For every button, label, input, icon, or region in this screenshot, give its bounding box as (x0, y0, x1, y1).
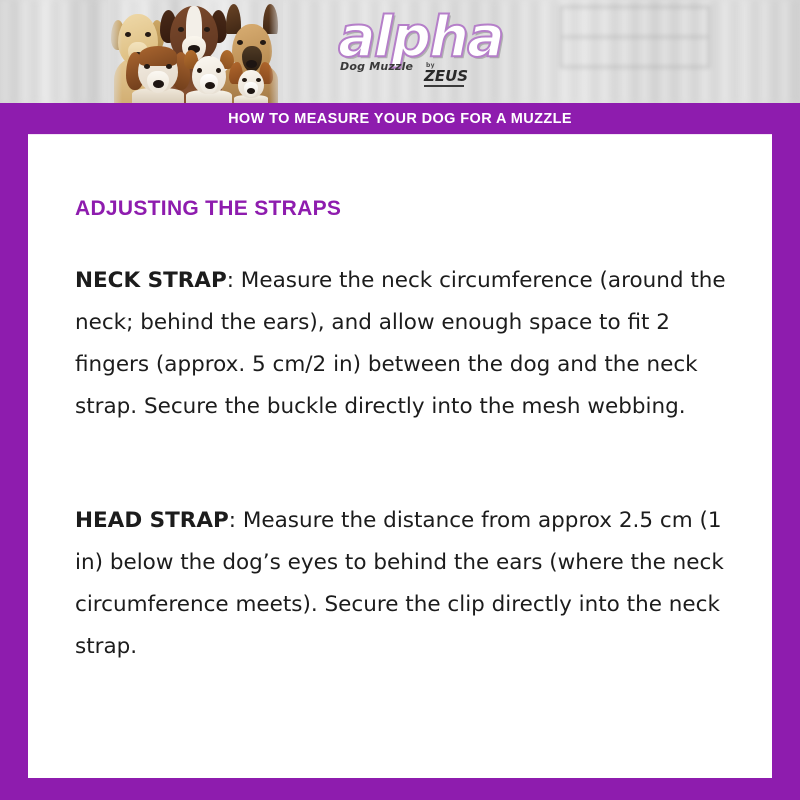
dog-nose (205, 82, 215, 89)
dog-eye-right (256, 78, 261, 82)
header-banner: alpha Dog Muzzle by ZEUS (0, 0, 800, 103)
dog-eye-left (125, 32, 131, 37)
paragraph-head-strap: HEAD STRAP: Measure the distance from ap… (75, 500, 735, 668)
logo-wordmark: alpha (338, 10, 503, 66)
dog-eye-right (216, 68, 221, 73)
dog-head-marking (139, 46, 177, 66)
dog-beagle (130, 44, 186, 103)
paragraph-label-head-strap: HEAD STRAP (75, 508, 229, 533)
page-title-bar: HOW TO MEASURE YOUR DOG FOR A MUZZLE (0, 103, 800, 134)
page-root: alpha Dog Muzzle by ZEUS HOW TO MEASURE … (0, 0, 800, 800)
photo-fade-right (269, 0, 283, 103)
dog-nose (153, 80, 164, 88)
dog-eye-left (144, 64, 150, 69)
paragraph-separator: : (229, 508, 243, 533)
dog-eye-right (204, 27, 210, 32)
page-title: HOW TO MEASURE YOUR DOG FOR A MUZZLE (228, 111, 572, 127)
zeus-wordmark: ZEUS (424, 69, 468, 84)
dog-jack-russell (184, 50, 234, 103)
paragraph-separator: : (227, 268, 241, 293)
paragraph-neck-strap: NECK STRAP: Measure the neck circumferen… (75, 260, 735, 428)
dog-eye-left (197, 68, 202, 73)
dog-eye-left (237, 40, 243, 45)
zeus-underline (424, 85, 464, 87)
dog-eye-left (178, 27, 184, 32)
paragraph-label-neck-strap: NECK STRAP (75, 268, 227, 293)
dog-nose (247, 88, 255, 94)
dog-eye-right (145, 32, 151, 37)
banner-background-window (560, 6, 710, 68)
dog-papillon (230, 62, 272, 103)
dog-eye-right (260, 40, 266, 45)
logo-subtitle: Dog Muzzle (340, 60, 413, 73)
section-heading: ADJUSTING THE STRAPS (75, 197, 341, 221)
content-card: ADJUSTING THE STRAPS NECK STRAP: Measure… (28, 134, 772, 778)
zeus-brand-mark: by ZEUS (424, 62, 468, 87)
dog-eye-left (242, 78, 247, 82)
alpha-brand-logo: alpha Dog Muzzle by ZEUS (338, 10, 488, 88)
group-of-dogs-photo (108, 0, 283, 103)
photo-fade-left (108, 0, 122, 103)
dog-eye-right (166, 64, 172, 69)
